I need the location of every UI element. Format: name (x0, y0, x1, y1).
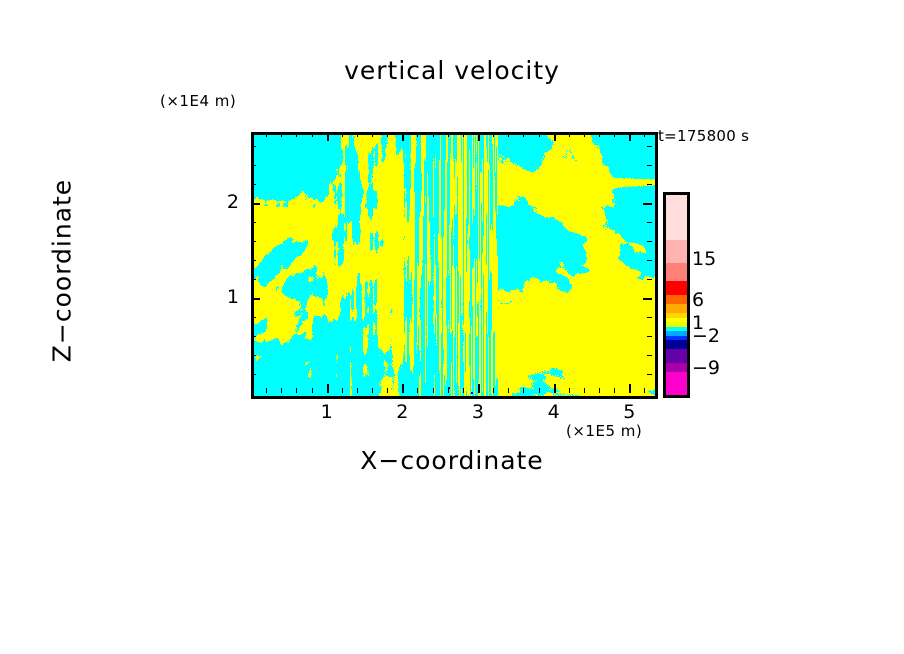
axis-tick (281, 132, 282, 137)
axis-tick (448, 388, 449, 393)
plot-area (251, 132, 658, 399)
axis-tick (647, 279, 652, 280)
axis-tick (296, 388, 297, 393)
axis-tick (523, 132, 524, 137)
colorbar-tick-label: −2 (692, 325, 720, 347)
axis-tick (539, 132, 540, 137)
axis-tick (251, 165, 256, 166)
colorbar-segment (666, 349, 687, 363)
x-tick-label: 4 (539, 401, 569, 423)
axis-tick (647, 336, 652, 337)
y-tick-label: 1 (209, 286, 239, 308)
axis-tick (357, 388, 358, 393)
axis-tick (281, 388, 282, 393)
axis-tick (554, 384, 556, 393)
axis-tick (251, 317, 256, 318)
axis-tick (417, 388, 418, 393)
axis-tick (647, 374, 652, 375)
axis-tick (312, 132, 313, 137)
colorbar-tick-label: 15 (692, 248, 716, 270)
axis-tick (647, 222, 652, 223)
axis-tick (584, 388, 585, 393)
time-annotation: t=175800 s (658, 127, 749, 145)
axis-tick (493, 132, 494, 137)
x-tick-label: 1 (312, 401, 342, 423)
axis-tick (629, 384, 631, 393)
axis-tick (523, 388, 524, 393)
axis-tick (251, 146, 256, 147)
axis-tick (251, 298, 260, 300)
axis-tick (643, 203, 652, 205)
axis-tick (327, 132, 329, 141)
colorbar-segment (666, 372, 687, 395)
colorbar-segment (666, 304, 687, 313)
axis-tick (296, 132, 297, 137)
axis-tick (629, 132, 631, 141)
axis-tick (647, 146, 652, 147)
axis-tick (647, 165, 652, 166)
colorbar-segment (666, 295, 687, 304)
axis-tick (584, 132, 585, 137)
axis-tick (647, 355, 652, 356)
x-tick-label: 2 (387, 401, 417, 423)
x-axis-title: X−coordinate (252, 446, 652, 475)
axis-tick (647, 317, 652, 318)
colorbar-segment (666, 340, 687, 349)
axis-tick (493, 388, 494, 393)
axis-tick (251, 374, 256, 375)
y-tick-label: 2 (209, 191, 239, 213)
axis-tick (251, 355, 256, 356)
axis-tick (251, 184, 256, 185)
y-axis-unit-label: (×1E4 m) (160, 92, 236, 110)
axis-tick (251, 336, 256, 337)
axis-tick (387, 388, 388, 393)
axis-tick (251, 279, 256, 280)
axis-tick (539, 388, 540, 393)
x-tick-label: 3 (463, 401, 493, 423)
axis-tick (357, 132, 358, 137)
colorbar-segment (666, 240, 687, 263)
axis-tick (569, 388, 570, 393)
x-tick-label: 5 (614, 401, 644, 423)
velocity-field-heatmap (254, 135, 655, 396)
colorbar-segment (666, 263, 687, 281)
y-axis-title: Z−coordinate (48, 156, 77, 386)
axis-tick (266, 388, 267, 393)
colorbar-segment (666, 363, 687, 372)
axis-tick (569, 132, 570, 137)
axis-tick (251, 222, 256, 223)
axis-tick (372, 132, 373, 137)
axis-tick (614, 132, 615, 137)
axis-tick (312, 388, 313, 393)
axis-tick (508, 388, 509, 393)
axis-tick (433, 132, 434, 137)
axis-tick (508, 132, 509, 137)
colorbar-segment (666, 281, 687, 295)
axis-tick (251, 203, 260, 205)
axis-tick (647, 241, 652, 242)
axis-tick (478, 384, 480, 393)
axis-tick (478, 132, 480, 141)
chart-title: vertical velocity (0, 56, 904, 85)
axis-tick (643, 298, 652, 300)
colorbar-tick-label: −9 (692, 357, 720, 379)
axis-tick (372, 388, 373, 393)
axis-tick (614, 388, 615, 393)
axis-tick (599, 132, 600, 137)
axis-tick (463, 388, 464, 393)
axis-tick (644, 132, 645, 137)
axis-tick (327, 384, 329, 393)
axis-tick (251, 241, 256, 242)
axis-tick (599, 388, 600, 393)
axis-tick (647, 184, 652, 185)
axis-tick (251, 260, 256, 261)
axis-tick (417, 132, 418, 137)
axis-tick (402, 384, 404, 393)
colorbar (663, 192, 690, 398)
axis-tick (554, 132, 556, 141)
axis-tick (266, 132, 267, 137)
axis-tick (463, 132, 464, 137)
axis-tick (342, 132, 343, 137)
axis-tick (647, 260, 652, 261)
axis-tick (433, 388, 434, 393)
x-axis-unit-label: (×1E5 m) (566, 422, 642, 440)
axis-tick (644, 388, 645, 393)
colorbar-tick-label: 6 (692, 289, 704, 311)
axis-tick (402, 132, 404, 141)
axis-tick (342, 388, 343, 393)
colorbar-segment (666, 195, 687, 240)
axis-tick (387, 132, 388, 137)
axis-tick (448, 132, 449, 137)
